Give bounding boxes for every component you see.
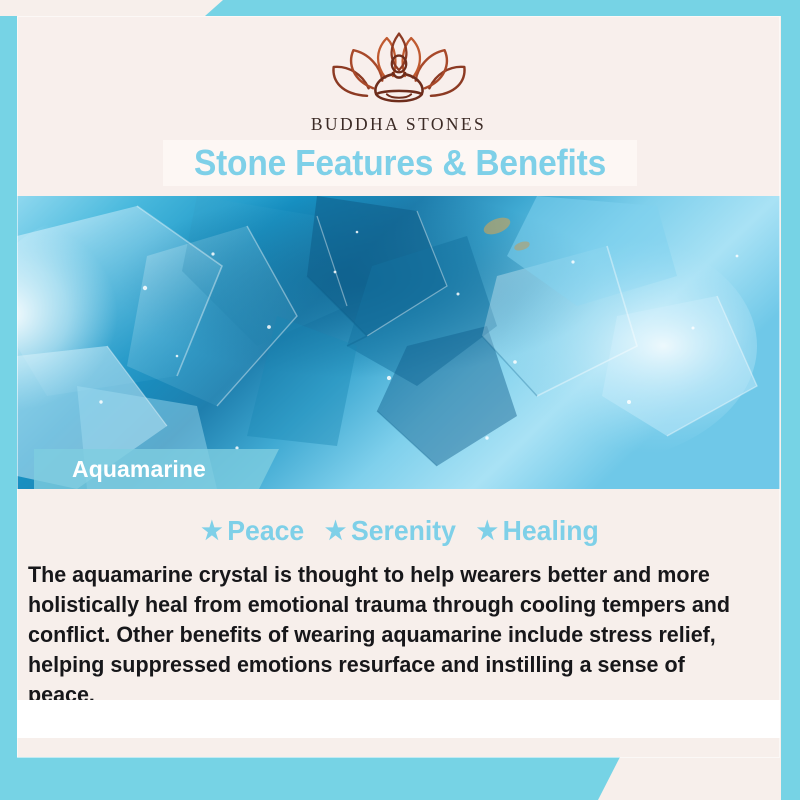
brand-logo: BUDDHA STONES [17,30,780,135]
keyword-label: Peace [227,515,304,546]
description-text: The aquamarine crystal is thought to hel… [28,560,739,710]
frame-top-accent-bar [205,0,800,16]
page-title: Stone Features & Benefits [28,140,772,186]
lotus-meditation-figure-icon [323,30,475,110]
brand-name: BUDDHA STONES [311,114,486,135]
stone-info-poster: BUDDHA STONES Stone Features & Benefits [0,0,800,800]
star-icon: ★ [201,517,222,545]
keyword-serenity: ★Serenity [325,514,456,548]
stone-name-label: Aquamarine [72,456,206,483]
frame-bottom-accent-bar [0,757,620,800]
frame-left-accent-bar [0,16,17,758]
star-icon: ★ [325,517,346,545]
stone-name-tag: Aquamarine [34,449,279,489]
keyword-peace: ★Peace [201,514,304,548]
crystal-photo-graphic [17,196,780,489]
aquamarine-crystal-photo: Aquamarine [17,196,780,489]
bottom-panel [17,700,780,738]
keyword-row: ★Peace ★Serenity ★Healing [20,514,780,548]
star-icon: ★ [477,517,498,545]
keyword-healing: ★Healing [477,514,599,548]
keyword-label: Healing [503,515,599,546]
frame-right-accent-bar [781,0,800,800]
keyword-label: Serenity [351,515,456,546]
